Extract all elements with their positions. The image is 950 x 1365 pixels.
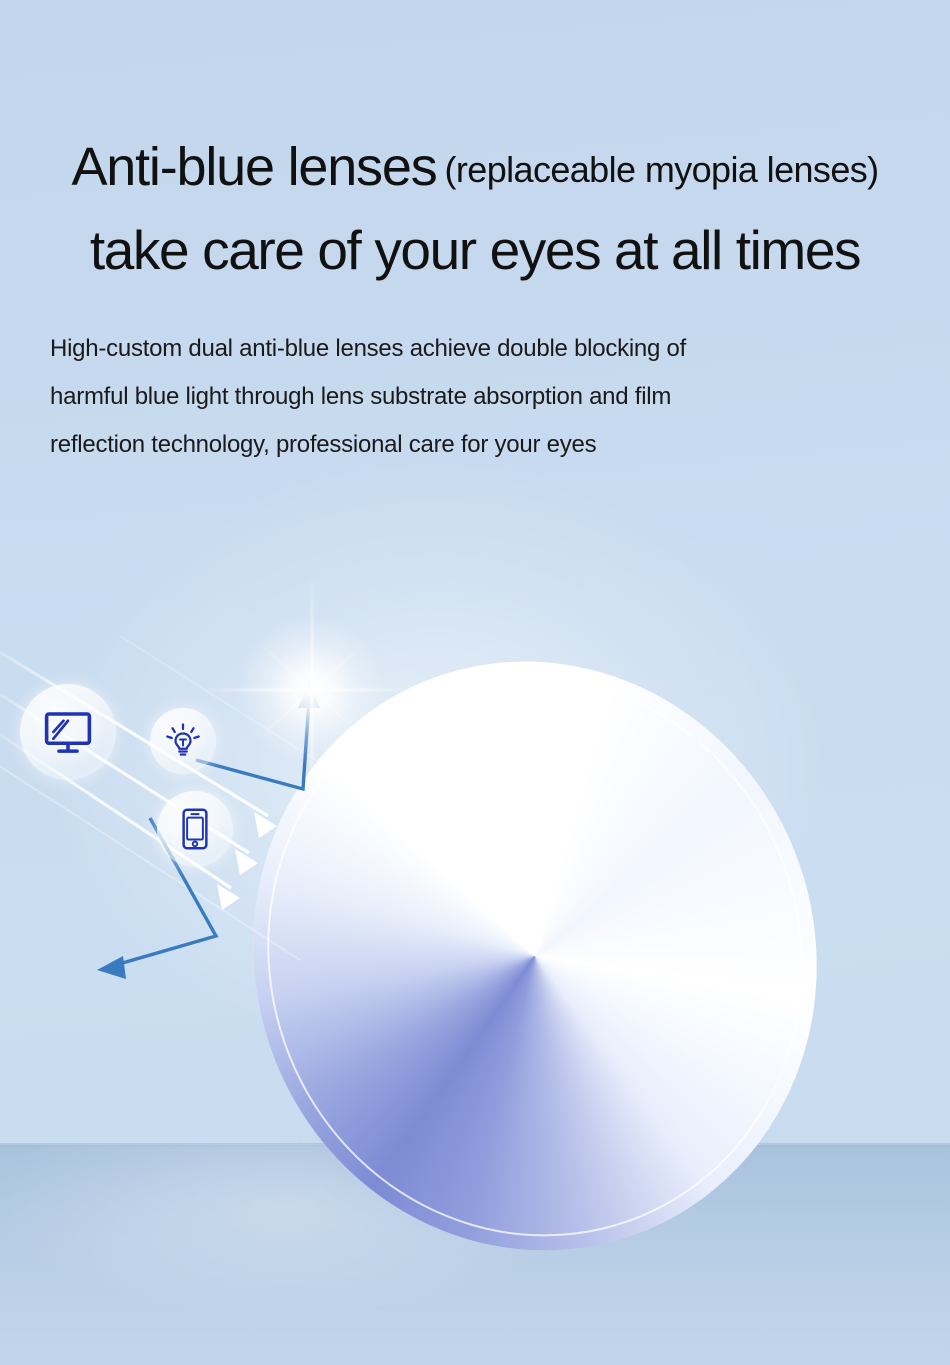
badge-monitor[interactable] <box>20 684 116 780</box>
badge-lightbulb[interactable] <box>150 708 216 774</box>
monitor-icon <box>41 705 95 759</box>
reflected-arrowhead-down <box>97 956 126 979</box>
lens-flare-secondary <box>418 760 498 840</box>
banner-stage: Anti-blue lenses(replaceable myopia lens… <box>0 0 950 1365</box>
lightbulb-icon <box>165 723 201 759</box>
light-ray-diagram <box>0 0 950 1365</box>
badge-smartphone[interactable] <box>157 791 233 867</box>
lens-flare-sparkle <box>192 570 432 810</box>
flare-ray <box>457 763 459 837</box>
smartphone-icon <box>178 808 212 850</box>
